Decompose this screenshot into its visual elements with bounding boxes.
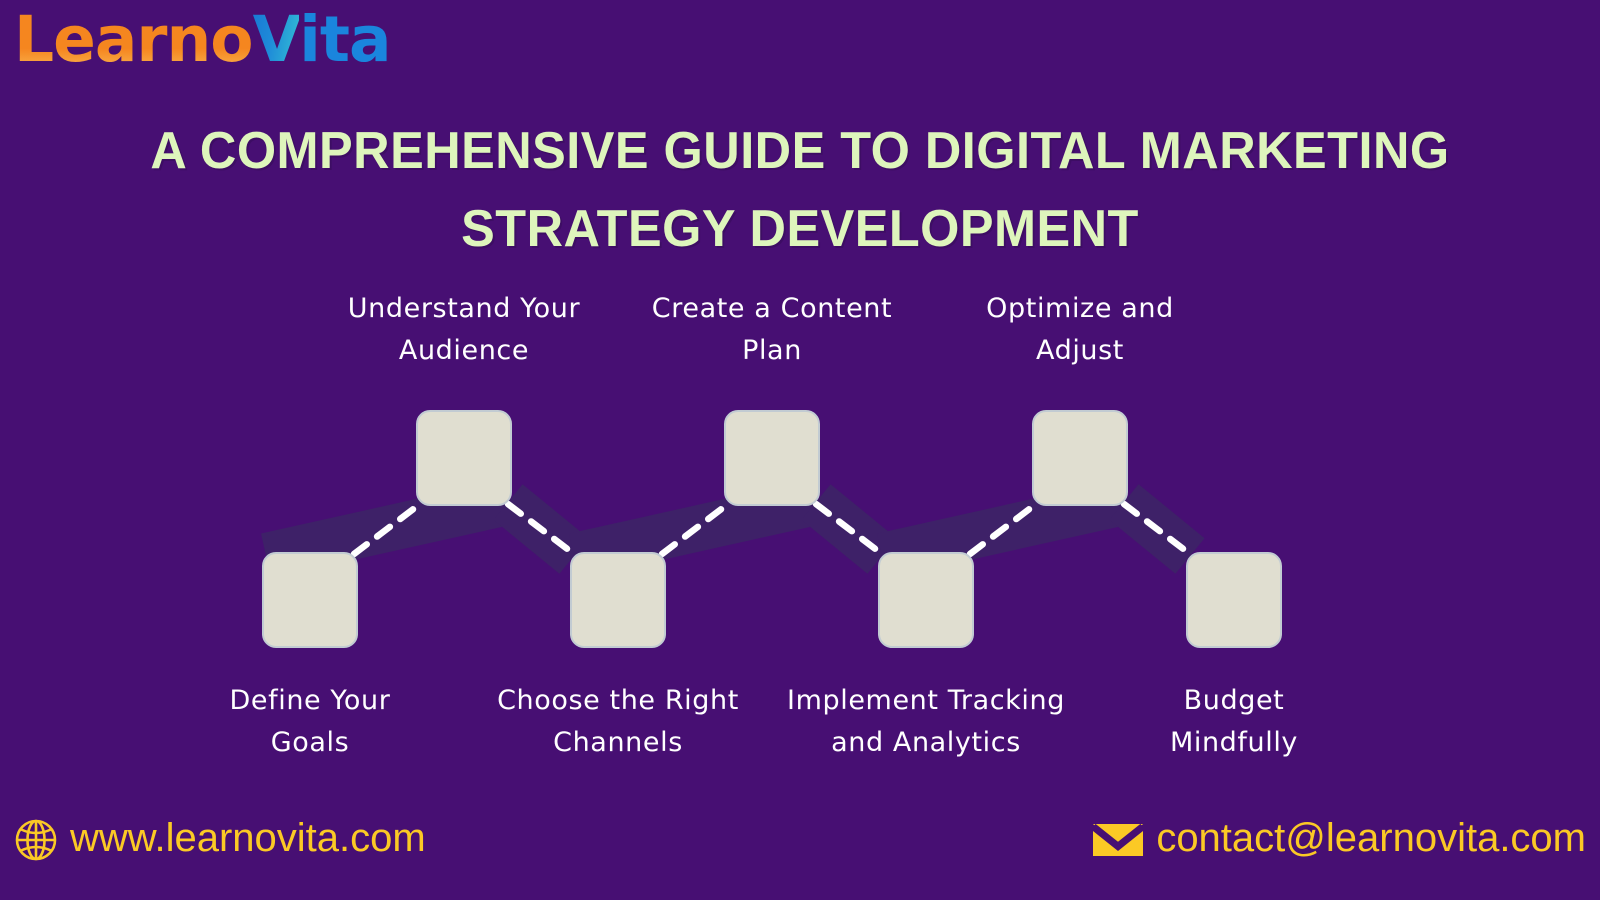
page-title: A COMPREHENSIVE GUIDE TO DIGITAL MARKETI… bbox=[131, 112, 1470, 268]
step-label-line-1: Implement Tracking bbox=[776, 680, 1076, 722]
logo-text-learno: Learno bbox=[14, 3, 253, 76]
step-label-line-2: and Analytics bbox=[776, 722, 1076, 764]
footer-website[interactable]: www.learnovita.com bbox=[14, 818, 426, 862]
step-label-line-2: Audience bbox=[314, 330, 614, 372]
step-label-line-1: Define Your bbox=[160, 680, 460, 722]
dashed-connector-segment bbox=[354, 504, 420, 554]
step-box-create-a-content-plan[interactable] bbox=[724, 410, 820, 506]
step-label-line-2: Channels bbox=[468, 722, 768, 764]
step-label-understand-your-audience: Understand YourAudience bbox=[314, 288, 614, 372]
infographic-canvas: LearnoVita A COMPREHENSIVE GUIDE TO DIGI… bbox=[0, 0, 1600, 900]
step-label-line-1: Optimize and bbox=[930, 288, 1230, 330]
step-box-budget-mindfully[interactable] bbox=[1186, 552, 1282, 648]
logo-text-ita: ita bbox=[299, 3, 390, 76]
step-label-implement-tracking-analytics: Implement Trackingand Analytics bbox=[776, 680, 1076, 764]
step-label-line-1: Understand Your bbox=[314, 288, 614, 330]
zigzag-band-segment bbox=[882, 502, 1124, 556]
step-label-line-1: Choose the Right bbox=[468, 680, 768, 722]
step-label-line-1: Create a Content bbox=[622, 288, 922, 330]
dashed-connector-segment bbox=[1124, 504, 1190, 554]
step-label-line-2: Adjust bbox=[930, 330, 1230, 372]
step-box-choose-the-right-channels[interactable] bbox=[570, 552, 666, 648]
step-label-create-a-content-plan: Create a ContentPlan bbox=[622, 288, 922, 372]
zigzag-band bbox=[266, 502, 1190, 556]
dashed-connector-segment bbox=[970, 504, 1036, 554]
globe-icon bbox=[14, 818, 58, 862]
page-title-line-2: STRATEGY DEVELOPMENT bbox=[131, 190, 1470, 268]
step-box-optimize-and-adjust[interactable] bbox=[1032, 410, 1128, 506]
step-label-line-1: Budget bbox=[1084, 680, 1384, 722]
zigzag-band-segment bbox=[508, 502, 574, 556]
step-label-line-2: Mindfully bbox=[1084, 722, 1384, 764]
step-label-choose-the-right-channels: Choose the RightChannels bbox=[468, 680, 768, 764]
footer-website-text: www.learnovita.com bbox=[70, 818, 426, 862]
dashed-connector-segment bbox=[662, 504, 728, 554]
envelope-icon bbox=[1092, 820, 1144, 860]
zigzag-band-segment bbox=[1124, 502, 1190, 556]
step-box-define-your-goals[interactable] bbox=[262, 552, 358, 648]
footer-email[interactable]: contact@learnovita.com bbox=[1092, 818, 1586, 862]
footer-email-text: contact@learnovita.com bbox=[1156, 818, 1586, 862]
zigzag-band-segment bbox=[574, 502, 816, 556]
zigzag-band-segment bbox=[816, 502, 882, 556]
learnovita-logo: LearnoVita bbox=[14, 8, 390, 71]
step-label-line-2: Goals bbox=[160, 722, 460, 764]
step-label-optimize-and-adjust: Optimize andAdjust bbox=[930, 288, 1230, 372]
dashed-connector-segment bbox=[508, 504, 574, 554]
dashed-connector-segment bbox=[816, 504, 882, 554]
step-label-budget-mindfully: BudgetMindfully bbox=[1084, 680, 1384, 764]
step-label-define-your-goals: Define YourGoals bbox=[160, 680, 460, 764]
step-box-understand-your-audience[interactable] bbox=[416, 410, 512, 506]
logo-text-v: V bbox=[253, 3, 300, 76]
dashed-connectors bbox=[354, 504, 1190, 554]
zigzag-band-segment bbox=[266, 502, 508, 556]
step-label-line-2: Plan bbox=[622, 330, 922, 372]
page-title-line-1: A COMPREHENSIVE GUIDE TO DIGITAL MARKETI… bbox=[131, 112, 1470, 190]
step-box-implement-tracking-analytics[interactable] bbox=[878, 552, 974, 648]
